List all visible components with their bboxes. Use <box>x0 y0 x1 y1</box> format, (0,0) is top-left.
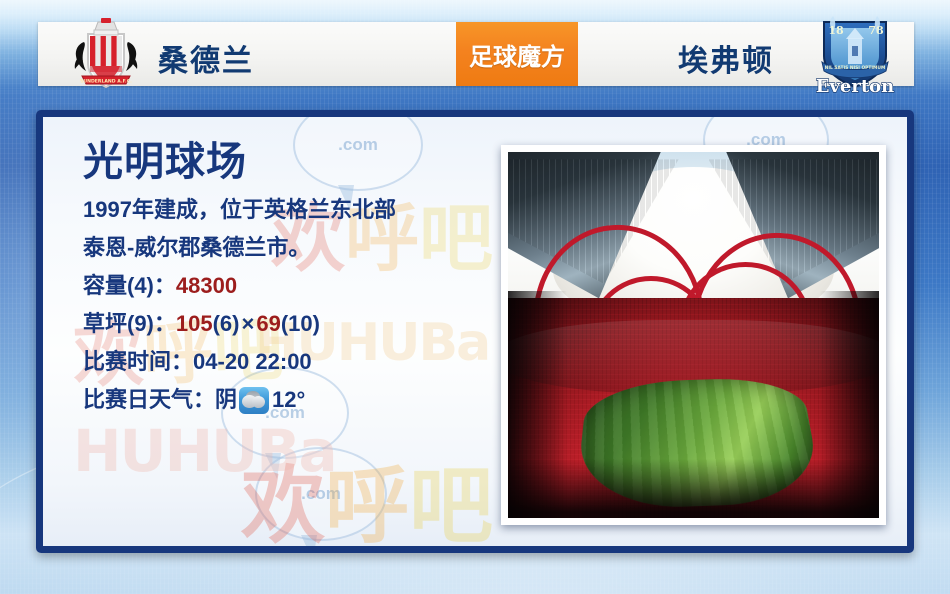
pitch-times-symbol: × <box>240 311 257 336</box>
stadium-description-line-2: 泰恩-威尔郡桑德兰市。 <box>83 229 513 267</box>
home-team-crest-icon: SUNDERLAND A.F.C. <box>58 16 154 92</box>
stadium-title: 光明球场 <box>83 139 513 185</box>
pitch-row: 草坪(9)：105(6)×69(10) <box>83 305 513 343</box>
away-team-crest-icon: 18 78 NIL SATIS NISI OPTIMUM Everton <box>800 8 910 100</box>
pitch-label: 草坪(9)： <box>83 311 176 336</box>
pitch-length-rank: (6) <box>213 311 240 336</box>
match-time-label: 比赛时间： <box>83 349 193 374</box>
watermark-brand-3: 欢呼吧 <box>241 439 493 553</box>
stadium-description-line-1: 1997年建成，位于英格兰东北部 <box>83 191 513 229</box>
screenshot-root: SUNDERLAND A.F.C. 桑德兰 足球魔方 埃弗顿 <box>0 0 950 594</box>
pitch-width-rank: (10) <box>281 311 320 336</box>
home-team-name: 桑德兰 <box>158 36 254 80</box>
svg-text:78: 78 <box>868 24 884 37</box>
pitch-width-value: 69 <box>256 311 280 336</box>
capacity-label: 容量(4)： <box>83 273 176 298</box>
svg-text:Everton: Everton <box>816 76 895 97</box>
watermark-brand-char: 呼 <box>325 457 409 553</box>
weather-condition: 阴 <box>215 381 237 419</box>
watermark-domain-4: .com <box>301 484 341 504</box>
match-time-value: 04-20 22:00 <box>193 349 312 374</box>
svg-text:NIL SATIS NISI OPTIMUM: NIL SATIS NISI OPTIMUM <box>825 65 886 71</box>
match-time-row: 比赛时间：04-20 22:00 <box>83 343 513 381</box>
weather-row: 比赛日天气：阴 12° <box>83 381 513 419</box>
stadium-info-card: .com .com .com .com 欢呼吧 欢呼吧 欢呼吧 HUHUBa H… <box>36 110 914 553</box>
capacity-value: 48300 <box>176 273 237 298</box>
weather-label: 比赛日天气： <box>83 381 215 419</box>
weather-temperature: 12° <box>272 381 305 419</box>
watermark-brand-char: 吧 <box>409 457 493 553</box>
match-header-bar: SUNDERLAND A.F.C. 桑德兰 足球魔方 埃弗顿 <box>38 22 914 86</box>
pitch-length-value: 105 <box>176 311 213 336</box>
watermark-pinyin-1: HUHUBa <box>73 417 336 485</box>
svg-text:18: 18 <box>828 24 844 37</box>
brand-logo[interactable]: 足球魔方 <box>456 22 578 86</box>
capacity-row: 容量(4)：48300 <box>83 267 513 305</box>
watermark-bubble-4: .com <box>255 447 387 541</box>
svg-text:SUNDERLAND A.F.C.: SUNDERLAND A.F.C. <box>80 78 132 84</box>
away-team-name: 埃弗顿 <box>678 36 774 80</box>
brand-logo-text: 足球魔方 <box>469 37 565 72</box>
cloudy-icon <box>239 387 269 414</box>
stadium-info-block: 光明球场 1997年建成，位于英格兰东北部 泰恩-威尔郡桑德兰市。 容量(4)：… <box>83 139 513 419</box>
watermark-brand-char: 欢 <box>241 457 325 553</box>
stadium-photo-frame <box>501 145 886 525</box>
stadium-photo <box>508 152 879 518</box>
